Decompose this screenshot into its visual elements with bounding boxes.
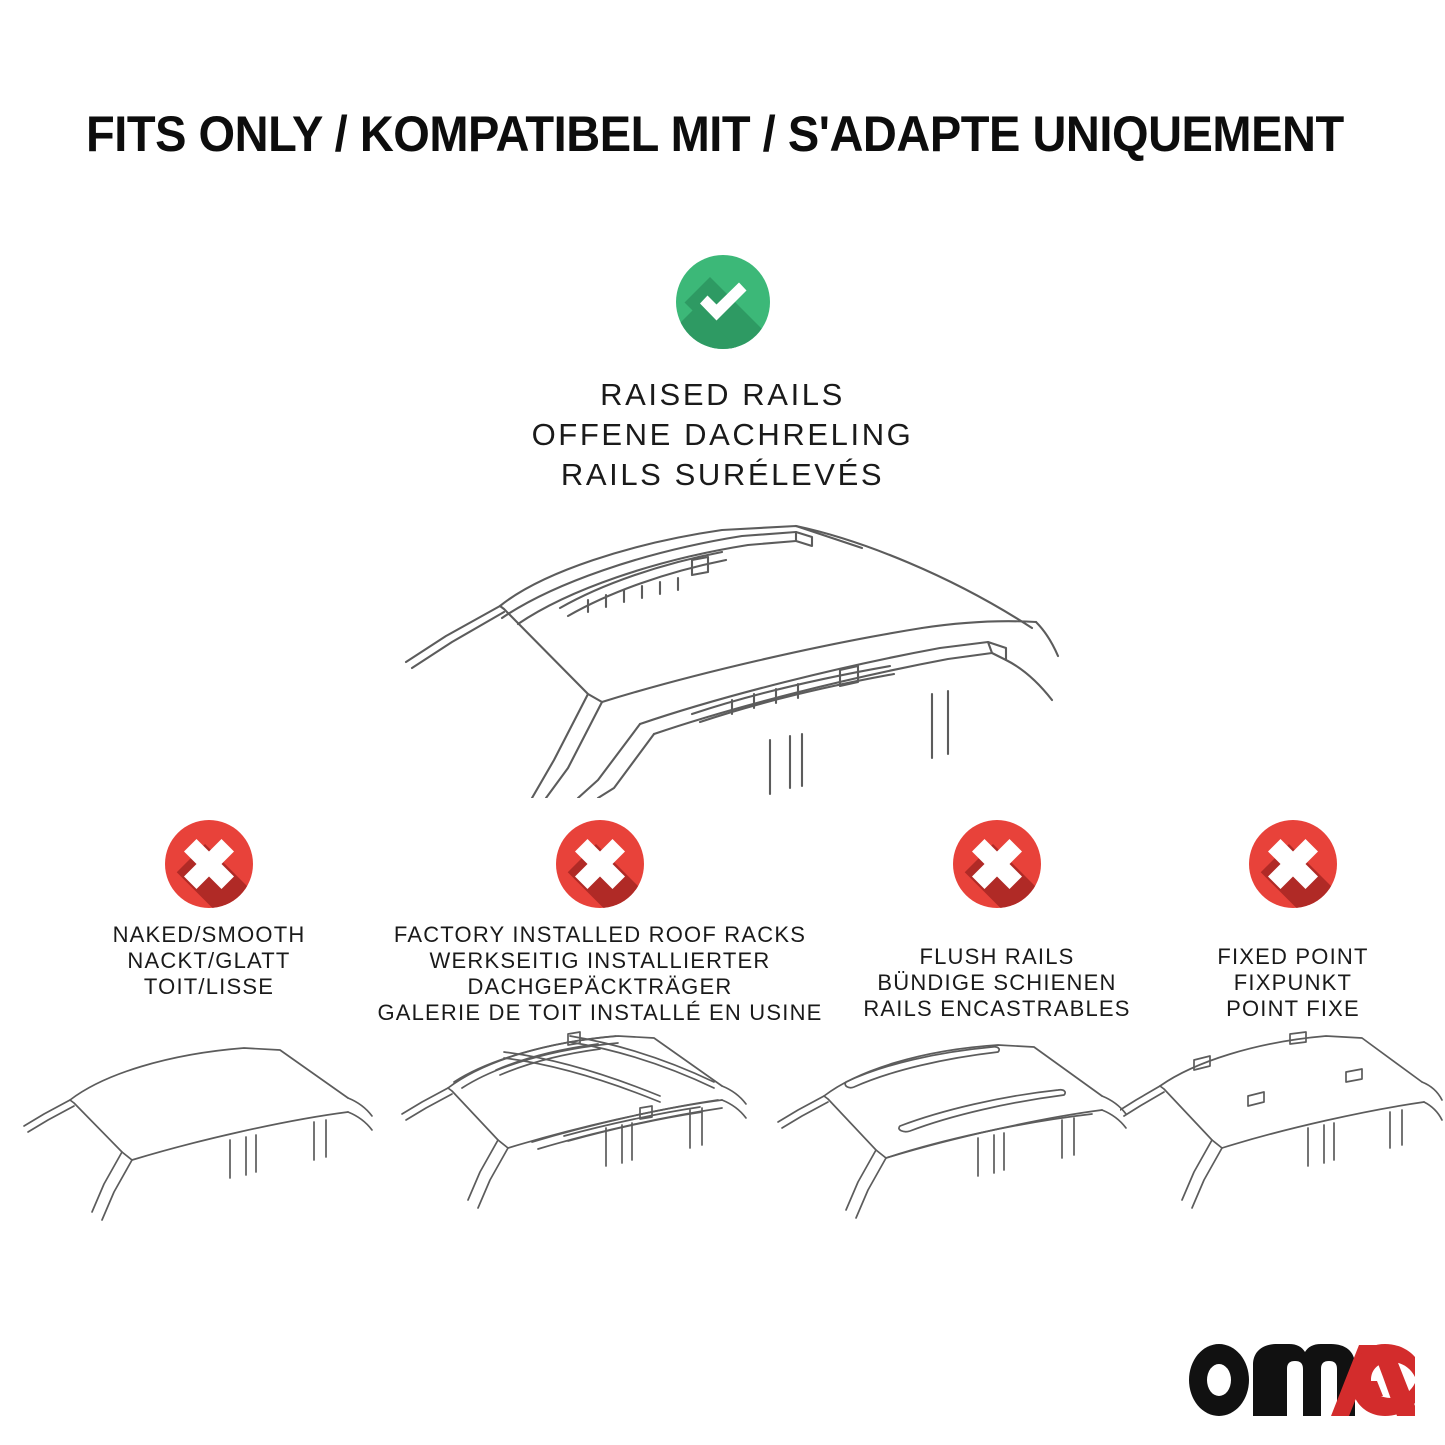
incompatible-label: FIXED POINT FIXPUNKT POINT FIXE <box>1148 944 1438 1022</box>
incompatible-item-fixed-point: FIXED POINT FIXPUNKT POINT FIXE <box>1148 820 1438 1022</box>
x-circle-icon <box>165 820 253 908</box>
label-line-de: NACKT/GLATT <box>44 948 374 974</box>
x-circle-icon <box>1249 820 1337 908</box>
label-line-de: BÜNDIGE SCHIENEN <box>822 970 1172 996</box>
incompatible-label: FACTORY INSTALLED ROOF RACKS WERKSEITIG … <box>370 922 830 1026</box>
label-line-en: FACTORY INSTALLED ROOF RACKS <box>370 922 830 948</box>
x-circle-icon <box>556 820 644 908</box>
label-line-fr: RAILS ENCASTRABLES <box>822 996 1172 1022</box>
car-roof-with-fixed-points-illustration <box>1120 1020 1445 1235</box>
incompatible-item-flush-rails: FLUSH RAILS BÜNDIGE SCHIENEN RAILS ENCAS… <box>822 820 1172 1022</box>
label-line-fr: TOIT/LISSE <box>44 974 374 1000</box>
incompatible-item-naked-smooth: NAKED/SMOOTH NACKT/GLATT TOIT/LISSE <box>44 820 374 1000</box>
check-circle-icon <box>676 255 770 349</box>
incompatible-label: FLUSH RAILS BÜNDIGE SCHIENEN RAILS ENCAS… <box>822 944 1172 1022</box>
car-roof-with-raised-rails-illustration <box>392 488 1072 798</box>
incompatible-label: NAKED/SMOOTH NACKT/GLATT TOIT/LISSE <box>44 922 374 1000</box>
car-roof-with-factory-crossbars-illustration <box>392 1012 752 1227</box>
omac-logo <box>1185 1343 1415 1417</box>
page-title: FITS ONLY / KOMPATIBEL MIT / S'ADAPTE UN… <box>86 105 1299 163</box>
compatible-label-line-de: OFFENE DACHRELING <box>0 415 1445 455</box>
compatibility-infographic: FITS ONLY / KOMPATIBEL MIT / S'ADAPTE UN… <box>0 0 1445 1445</box>
incompatible-item-factory-roof-racks: FACTORY INSTALLED ROOF RACKS WERKSEITIG … <box>370 820 830 1026</box>
label-line-de-2: DACHGEPÄCKTRÄGER <box>370 974 830 1000</box>
compatible-label-line-en: RAISED RAILS <box>0 375 1445 415</box>
label-line-de-1: WERKSEITIG INSTALLIERTER <box>370 948 830 974</box>
label-line-fr: POINT FIXE <box>1148 996 1438 1022</box>
label-line-en: FLUSH RAILS <box>822 944 1172 970</box>
compatible-section: RAISED RAILS OFFENE DACHRELING RAILS SUR… <box>0 255 1445 495</box>
incompatible-section: NAKED/SMOOTH NACKT/GLATT TOIT/LISSE FACT… <box>0 820 1445 1020</box>
label-line-en: FIXED POINT <box>1148 944 1438 970</box>
x-circle-icon <box>953 820 1041 908</box>
car-roof-with-flush-rails-illustration <box>772 1020 1132 1235</box>
label-line-en: NAKED/SMOOTH <box>44 922 374 948</box>
label-line-de: FIXPUNKT <box>1148 970 1438 996</box>
car-roof-bare-illustration <box>18 1020 378 1235</box>
compatible-label: RAISED RAILS OFFENE DACHRELING RAILS SUR… <box>0 375 1445 495</box>
